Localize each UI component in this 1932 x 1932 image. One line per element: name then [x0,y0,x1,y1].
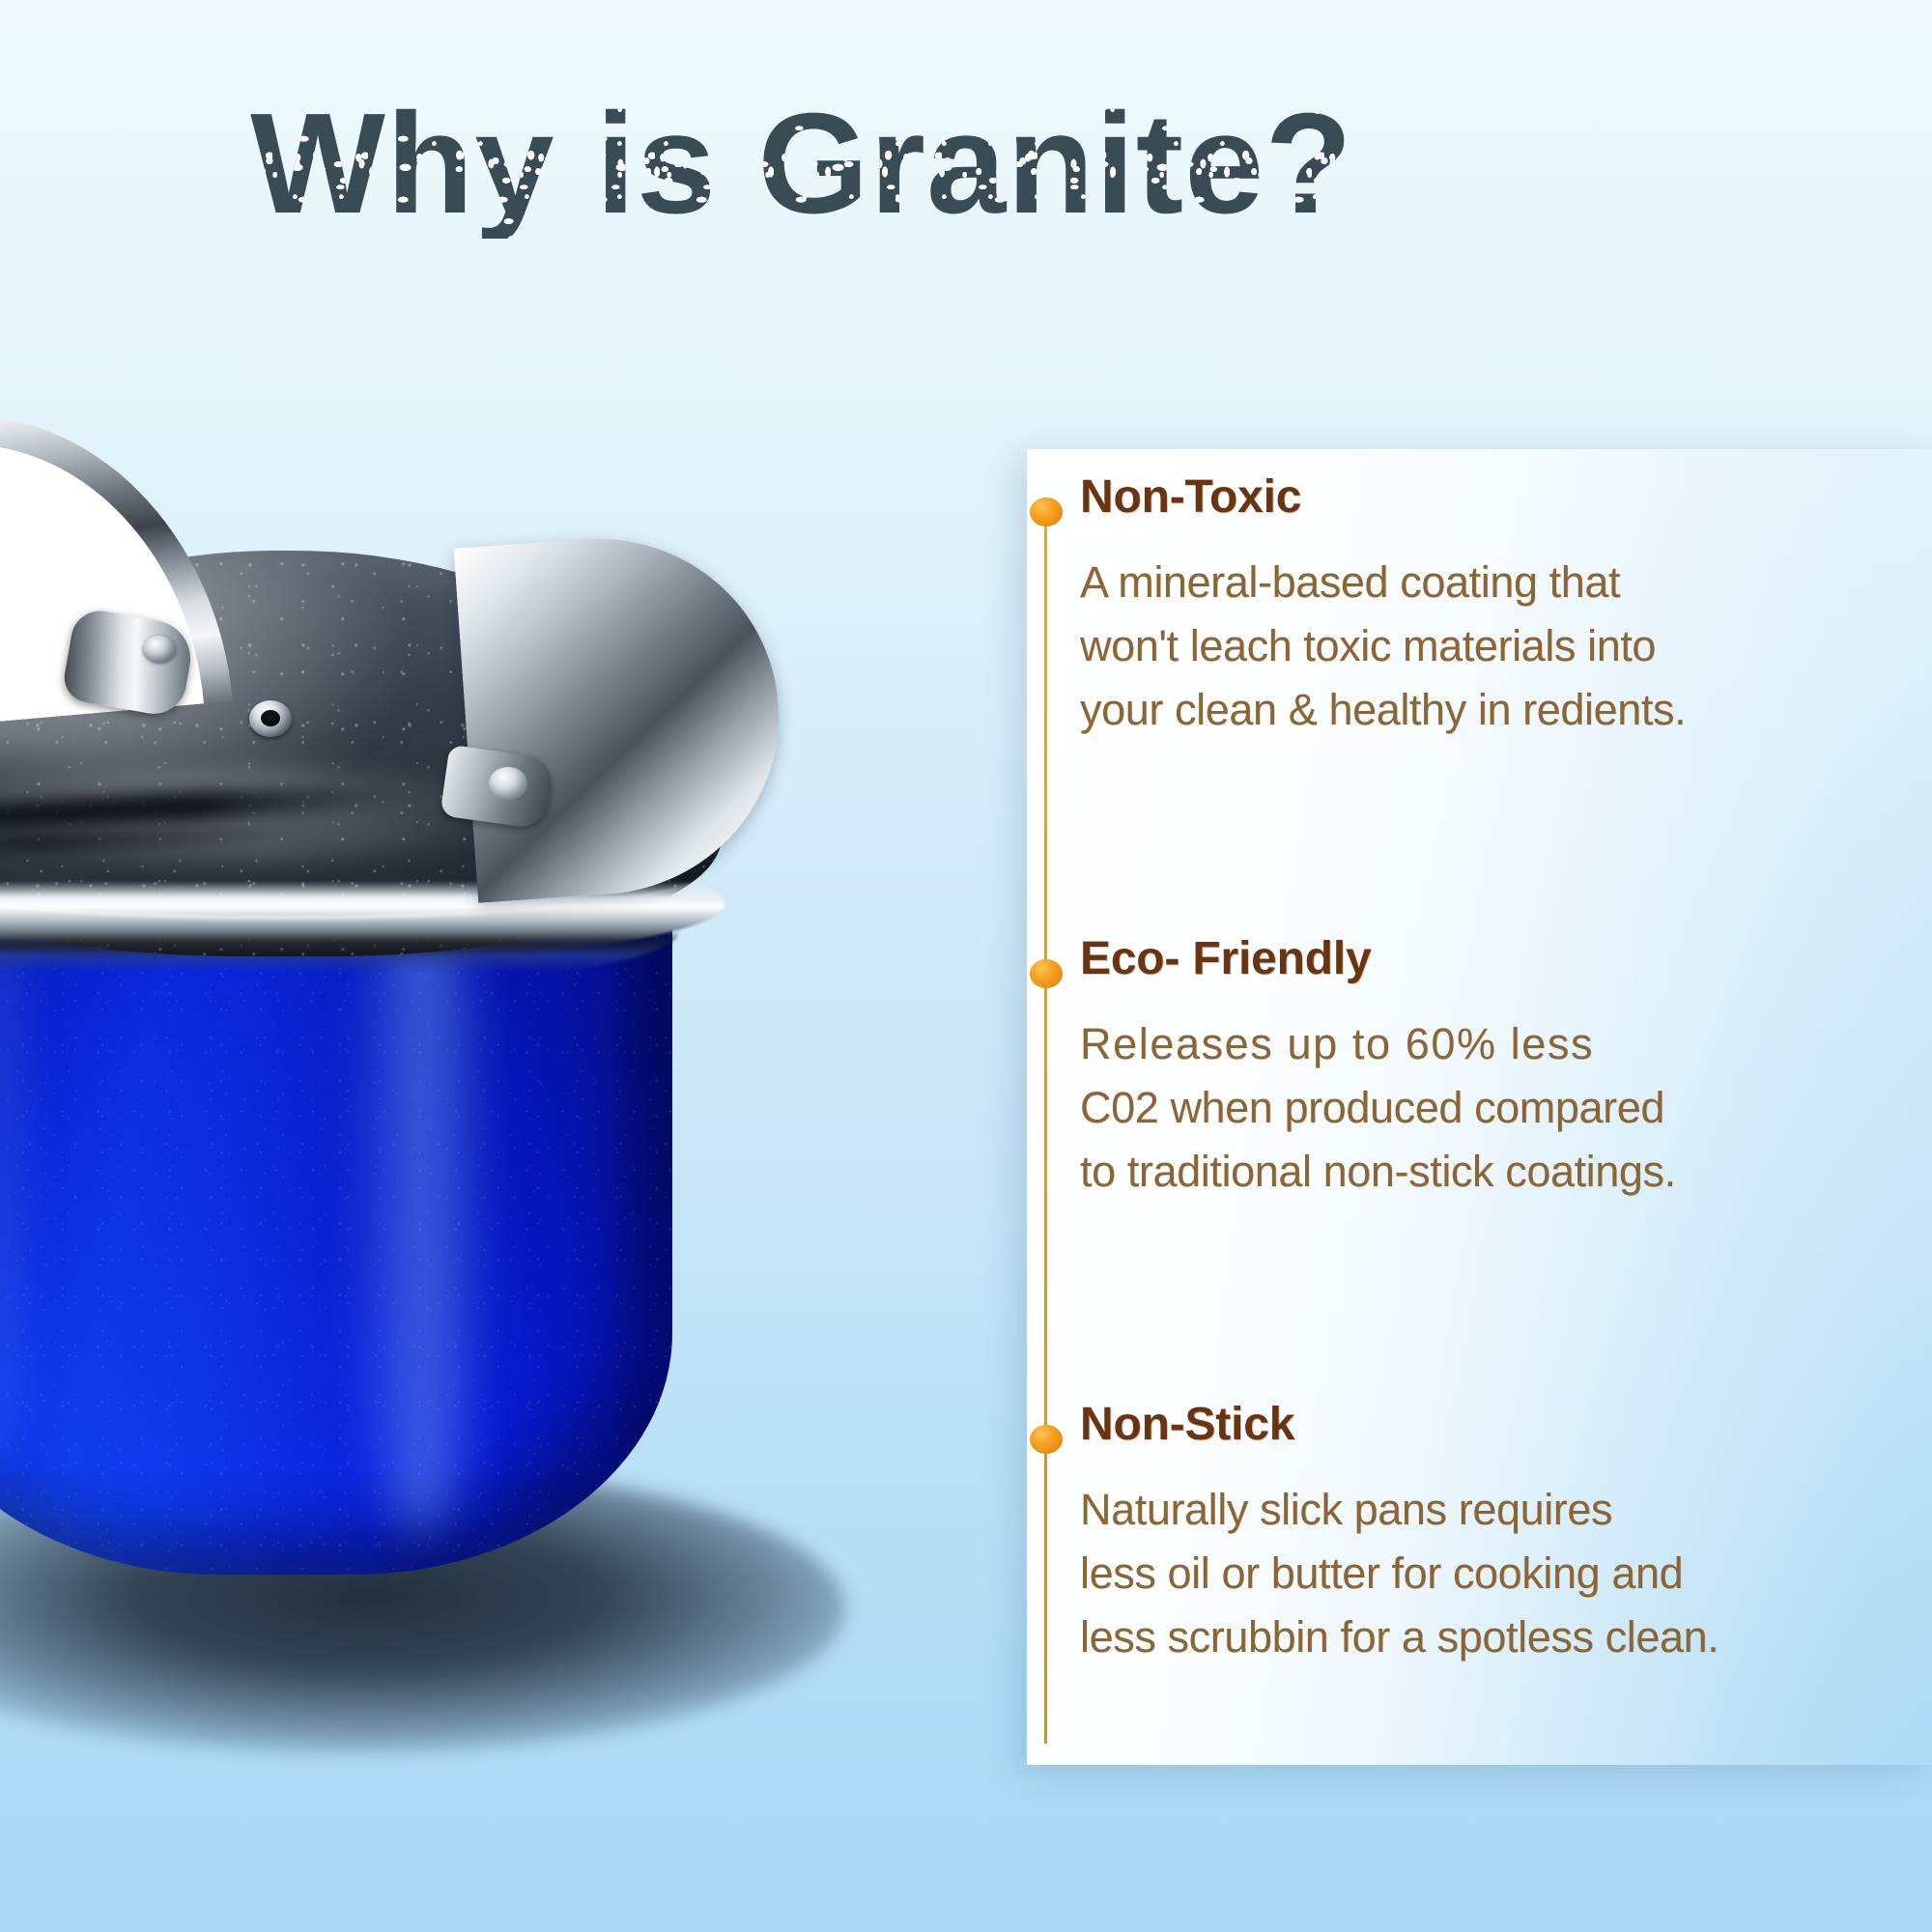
timeline-connector-line [1044,507,1047,1744]
bullet-dot-icon-2 [1030,959,1063,988]
benefit-block-non-toxic: Non-Toxic A mineral-based coating that w… [1080,473,1911,741]
benefit-body-line: to traditional non-stick coatings. [1080,1140,1911,1204]
steam-vent-icon [249,700,292,737]
benefit-body-line: less oil or butter for cooking and [1080,1542,1911,1605]
benefit-body-line: Naturally slick pans requires [1080,1478,1911,1542]
product-image [0,386,879,1903]
benefit-block-eco-friendly: Eco- Friendly Releases up to 60% less C0… [1080,935,1911,1203]
benefit-body: Releases up to 60% less C02 when produce… [1080,1012,1911,1203]
benefit-heading: Eco- Friendly [1080,935,1911,983]
benefit-body-line: your clean & healthy in redients. [1080,678,1911,742]
benefit-body-line: A mineral-based coating that [1080,551,1911,614]
bullet-dot-icon-1 [1030,497,1063,526]
page-title: Why is Granite? [0,89,1604,239]
benefit-body: A mineral-based coating that won't leach… [1080,551,1911,741]
lid-handle-rivet [143,636,176,663]
benefit-heading: Non-Stick [1080,1401,1911,1449]
benefit-body-line: C02 when produced compared [1080,1076,1911,1140]
benefit-heading: Non-Toxic [1080,473,1911,522]
benefit-body-line: won't leach toxic materials into [1080,614,1911,678]
benefit-body: Naturally slick pans requires less oil o… [1080,1478,1911,1668]
benefit-block-non-stick: Non-Stick Naturally slick pans requires … [1080,1401,1911,1668]
benefit-body-line: Releases up to 60% less [1080,1012,1911,1076]
page-title-text: Why is Granite? [250,89,1353,239]
side-handle-rivet [489,767,527,800]
benefit-body-line: less scrubbin for a spotless clean. [1080,1605,1911,1669]
bullet-dot-icon-3 [1030,1425,1063,1454]
side-handle-icon [454,526,791,903]
promo-canvas: Why is Granite? [0,0,1932,1932]
